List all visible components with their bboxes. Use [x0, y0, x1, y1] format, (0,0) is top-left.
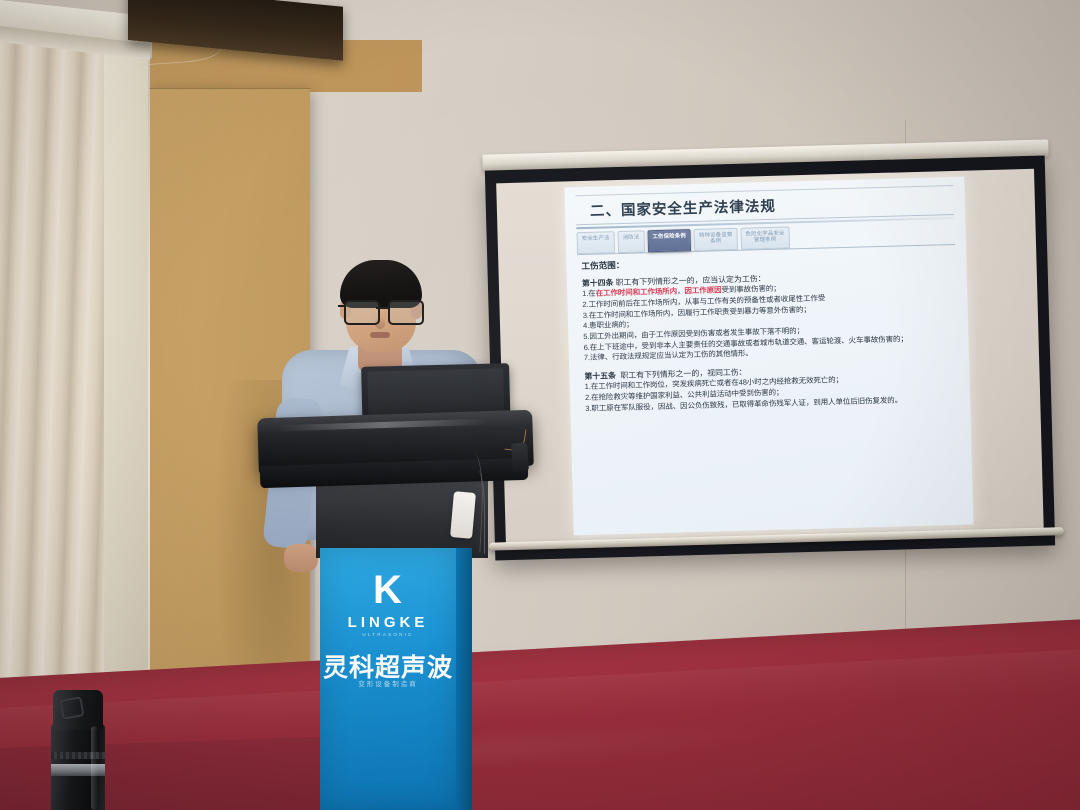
wall-panel-seam — [142, 88, 310, 89]
brand-latin-name: LINGKE — [320, 614, 456, 631]
screen-frame: 二、国家安全生产法律法规 安全生产法 消防法 工伤保险条例 特种设备监察 条例 … — [485, 155, 1055, 560]
glasses-temple — [338, 305, 346, 307]
lingke-k-logo-icon: K — [320, 570, 456, 610]
hanging-face-mask — [450, 491, 476, 539]
wall-column — [104, 50, 148, 740]
brand-latin-subtitle: ULTRASONIC — [320, 632, 456, 637]
highlight-phrase-2: 因工作原因 — [684, 286, 721, 296]
glasses-lens — [388, 300, 424, 325]
highlight-phrase-1: 在工作时间和工作场所内 — [596, 287, 678, 298]
article-15: 第十五条 职工有下列情形之一的，视同工伤： 1.在工作时间和工作岗位，突发疾病死… — [584, 361, 957, 414]
glasses-icon — [342, 300, 422, 321]
slide-body: 工伤范围： 第十四条 职工有下列情形之一的，应当认定为工伤： 1.在在工作时间和… — [575, 245, 961, 415]
thermos-bottle — [47, 690, 109, 810]
slide-title: 二、国家安全生产法律法规 — [590, 190, 952, 221]
photo-scene: 二、国家安全生产法律法规 安全生产法 消防法 工伤保险条例 特种设备监察 条例 … — [0, 0, 1080, 810]
tab-fire-protection-law[interactable]: 消防法 — [617, 230, 644, 253]
podium-branding-panel: K LINGKE ULTRASONIC 灵科超声波 变形设备制造商 — [320, 548, 456, 810]
podium-clamp — [511, 442, 529, 471]
article-14-number: 第十四条 — [582, 278, 614, 288]
glasses-bridge — [376, 307, 388, 309]
screen-surface: 二、国家安全生产法律法规 安全生产法 消防法 工伤保险条例 特种设备监察 条例 … — [496, 169, 1044, 546]
tab-hazardous-chemicals-regulation[interactable]: 危险化学品安全 管理条例 — [740, 226, 790, 249]
projected-slide: 二、国家安全生产法律法规 安全生产法 消防法 工伤保险条例 特种设备监察 条例 … — [564, 177, 973, 536]
tab-safety-production-law[interactable]: 安全生产法 — [577, 231, 616, 254]
tab-special-equipment-regulation[interactable]: 特种设备监察 条例 — [694, 228, 738, 251]
presenter-mouth — [370, 332, 390, 338]
brand-chinese-subtitle: 变形设备制造商 — [320, 678, 456, 688]
projection-screen: 二、国家安全生产法律法规 安全生产法 消防法 工伤保险条例 特种设备监察 条例 … — [485, 155, 1055, 560]
tab-work-injury-insurance-regulation[interactable]: 工伤保险条例 — [647, 229, 691, 252]
glasses-lens — [344, 300, 380, 325]
podium-side-edge — [456, 548, 472, 810]
article-14: 第十四条 职工有下列情形之一的，应当认定为工伤： 1.在在工作时间和工作场所内，… — [582, 268, 956, 364]
podium: K LINGKE ULTRASONIC 灵科超声波 变形设备制造商 — [258, 414, 543, 810]
thermos-highlight — [91, 726, 98, 810]
thermos-handle-loop — [59, 696, 84, 720]
article-15-number: 第十五条 — [584, 371, 616, 381]
